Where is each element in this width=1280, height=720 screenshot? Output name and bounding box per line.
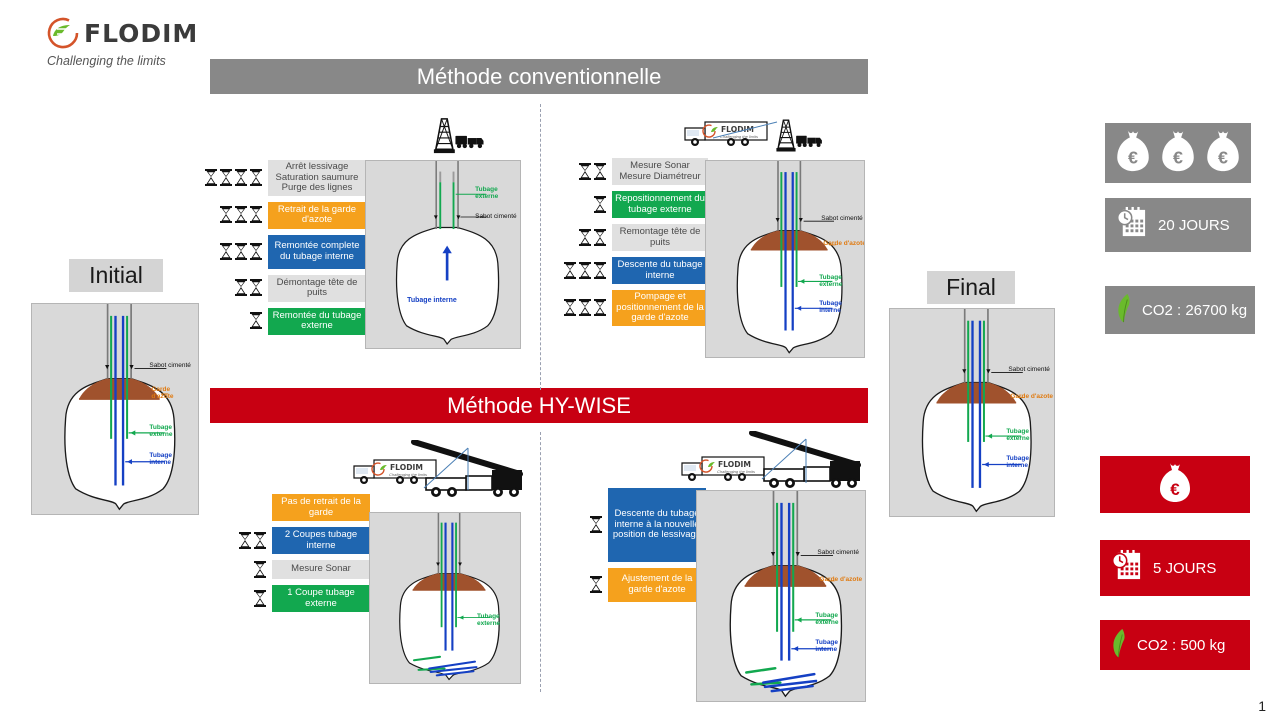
- label-sabot-cimente: Sabot cimenté: [475, 213, 517, 220]
- step-label: Remontage tête de puits: [612, 224, 708, 251]
- hourglass-icon: [234, 279, 249, 297]
- step-label: Démontage tête de puits: [268, 275, 366, 302]
- step-label: Remontée complete du tubage interne: [268, 235, 366, 269]
- flodim-logo: FLODIM Challenging the limits: [46, 14, 216, 76]
- hourglass-icon: [593, 229, 608, 247]
- hourglass-icon: [249, 312, 264, 330]
- label-tubage-externe: Tubageexterne: [819, 274, 842, 288]
- step-row: Descente du tubage interne: [560, 257, 708, 284]
- well-diagram-conventional-stage-1: TubageexterneSabot cimentéTubage interne: [365, 160, 521, 349]
- label-sabot-cimente: Sabot cimenté: [1008, 366, 1050, 373]
- svg-text:€: €: [1128, 148, 1138, 168]
- step-label: Retrait de la garde d'azote: [268, 202, 366, 229]
- kpi-cost-conventional: €€€: [1105, 123, 1251, 183]
- hourglass-icon: [253, 561, 268, 579]
- leaf-icon: [1115, 292, 1134, 329]
- step-row: Repositionnement du tubage externe: [560, 191, 708, 218]
- label-garde-azote: Garde d'azote: [823, 240, 865, 247]
- steps-conventional-stage-2: Mesure Sonar Mesure DiamétreurReposition…: [560, 158, 708, 332]
- label-tubage-externe: Tubageexterne: [815, 612, 838, 626]
- steps-hywise-stage-2: Descente du tubage interne à la nouvelle…: [568, 488, 706, 608]
- step-row: 1 Coupe tubage externe: [232, 585, 370, 612]
- hourglass-icon: [578, 262, 593, 280]
- hourglass-group: [234, 279, 264, 297]
- well-diagram-final: Sabot cimentéGarde d'azoteTubageexterneT…: [889, 308, 1055, 517]
- kpi-duration-hywise-label: 5 JOURS: [1153, 560, 1216, 577]
- kpi-duration-conventional: 20 JOURS: [1105, 198, 1251, 252]
- hourglass-group: [238, 532, 268, 550]
- kpi-cost-hywise: €: [1100, 456, 1250, 513]
- label-sabot-cimente: Sabot cimenté: [817, 549, 859, 556]
- hourglass-icon: [249, 243, 264, 261]
- hourglass-icon: [238, 532, 253, 550]
- kpi-duration-conventional-label: 20 JOURS: [1158, 217, 1230, 234]
- hourglass-group: [219, 206, 264, 224]
- derrick-icon: [434, 119, 455, 153]
- hourglass-icon: [578, 229, 593, 247]
- label-tubage-interne: Tubage interne: [407, 297, 457, 304]
- money-bag-icon: €: [1202, 127, 1244, 178]
- hourglass-icon: [219, 206, 234, 224]
- flodim-wordmark: FLODIM: [84, 19, 198, 48]
- hourglass-icon: [249, 279, 264, 297]
- hourglass-icon: [589, 516, 604, 534]
- label-tubage-interne: Tubageinterne: [1006, 455, 1029, 469]
- label-tubage-interne: Tubageinterne: [149, 452, 172, 466]
- well-diagram-hywise-stage-1: Tubageexterne: [369, 512, 521, 684]
- svg-text:€: €: [1218, 148, 1228, 168]
- step-row: 2 Coupes tubage interne: [232, 527, 370, 554]
- label-tubage-externe: Tubageexterne: [149, 424, 172, 438]
- banner-conventional-method: Méthode conventionnelle: [210, 59, 868, 94]
- step-row: Descente du tubage interne à la nouvelle…: [568, 488, 706, 562]
- step-label: Remontée du tubage externe: [268, 308, 366, 335]
- kpi-co2-hywise: CO2 : 500 kg: [1100, 620, 1250, 670]
- step-label: Pompage et positionnement de la garde d'…: [612, 290, 708, 326]
- money-bag-icon: €: [1155, 460, 1195, 509]
- steps-conventional-stage-1: Arrêt lessivage Saturation saumure Purge…: [192, 160, 366, 341]
- label-garde-azote: Garded'azote: [151, 386, 173, 400]
- tanker-truck-icon: [796, 136, 822, 147]
- hourglass-group: [219, 243, 264, 261]
- hourglass-icon: [234, 243, 249, 261]
- hourglass-icon: [578, 163, 593, 181]
- label-sabot-cimente: Sabot cimenté: [821, 215, 863, 222]
- step-label: 2 Coupes tubage interne: [272, 527, 370, 554]
- label-tubage-externe: Tubageexterne: [477, 613, 500, 627]
- hourglass-icon: [593, 262, 608, 280]
- hourglass-group: [589, 516, 604, 534]
- derrick-rig-conventional-1: [424, 105, 496, 163]
- step-row: Ajustement de la garde d'azote: [568, 568, 706, 602]
- well-diagram-hywise-stage-2: Sabot cimentéGarde d'azoteTubageexterneT…: [696, 490, 866, 702]
- step-row: Arrêt lessivage Saturation saumure Purge…: [192, 160, 366, 196]
- steps-hywise-stage-1: Pas de retrait de la garde2 Coupes tubag…: [232, 494, 370, 618]
- hourglass-group: [563, 262, 608, 280]
- hourglass-icon: [593, 163, 608, 181]
- hourglass-group: [589, 576, 604, 594]
- step-row: Remontée complete du tubage interne: [192, 235, 366, 269]
- calendar-clock-icon: [1110, 549, 1143, 587]
- divider-conventional: [540, 104, 541, 390]
- step-row: Retrait de la garde d'azote: [192, 202, 366, 229]
- svg-text:€: €: [1173, 148, 1183, 168]
- well-diagram-initial: Sabot cimentéGarded'azoteTubageexterneTu…: [31, 303, 199, 515]
- hourglass-group: [593, 196, 608, 214]
- hourglass-group: [578, 229, 608, 247]
- kpi-duration-hywise: 5 JOURS: [1100, 540, 1250, 596]
- stage-label-final: Final: [927, 271, 1015, 304]
- step-label: Descente du tubage interne: [612, 257, 708, 284]
- hourglass-icon: [219, 243, 234, 261]
- hourglass-icon: [234, 169, 249, 187]
- label-sabot-cimente: Sabot cimenté: [149, 362, 191, 369]
- hourglass-icon: [578, 299, 593, 317]
- kpi-co2-hywise-label: CO2 : 500 kg: [1137, 637, 1225, 654]
- hourglass-group: [249, 312, 264, 330]
- step-row: Pompage et positionnement de la garde d'…: [560, 290, 708, 326]
- label-tubage-interne: Tubageinterne: [819, 300, 842, 314]
- stage-label-initial: Initial: [69, 259, 163, 292]
- leaf-icon: [1110, 627, 1129, 664]
- crane-rig-hywise-1: FLODIMChallenging the limits: [352, 440, 524, 515]
- hourglass-group: [204, 169, 264, 187]
- well-diagram-conventional-stage-2: Sabot cimentéGarde d'azoteTubageexterneT…: [705, 160, 865, 358]
- hourglass-icon: [593, 196, 608, 214]
- kpi-co2-conventional: CO2 : 26700 kg: [1105, 286, 1255, 334]
- step-label: Repositionnement du tubage externe: [612, 191, 708, 218]
- step-label: Arrêt lessivage Saturation saumure Purge…: [268, 160, 366, 196]
- label-tubage-interne: Tubageinterne: [815, 639, 838, 653]
- hourglass-icon: [234, 206, 249, 224]
- page-number: 1: [1258, 698, 1266, 714]
- label-garde-azote: Garde d'azote: [1010, 393, 1053, 400]
- step-row: Remontée du tubage externe: [192, 308, 366, 335]
- hourglass-icon: [563, 299, 578, 317]
- svg-text:€: €: [1170, 480, 1180, 499]
- label-tubage-externe: Tubageexterne: [475, 186, 498, 200]
- hourglass-icon: [253, 590, 268, 608]
- flodim-logo-mark: [46, 16, 80, 50]
- hourglass-icon: [204, 169, 219, 187]
- hourglass-icon: [563, 262, 578, 280]
- hourglass-icon: [253, 532, 268, 550]
- crane-rig-hywise-2: FLODIMChallenging the limits: [680, 435, 870, 493]
- hourglass-group: [578, 163, 608, 181]
- hourglass-icon: [219, 169, 234, 187]
- step-label: Mesure Sonar: [272, 560, 370, 579]
- hourglass-icon: [249, 206, 264, 224]
- hourglass-icon: [589, 576, 604, 594]
- hourglass-group: [253, 561, 268, 579]
- step-row: Pas de retrait de la garde: [232, 494, 370, 521]
- step-label: Ajustement de la garde d'azote: [608, 568, 706, 602]
- hourglass-group: [563, 299, 608, 317]
- hourglass-icon: [593, 299, 608, 317]
- flodim-tagline: Challenging the limits: [47, 54, 166, 68]
- tanker-truck-icon: [455, 136, 483, 148]
- banner-hywise-method: Méthode HY-WISE: [210, 388, 868, 423]
- derrick-rig-conventional-2: FLODIMChallenging the limits: [683, 118, 829, 163]
- money-bag-icon: €: [1112, 127, 1154, 178]
- calendar-clock-icon: [1115, 206, 1148, 244]
- step-label: 1 Coupe tubage externe: [272, 585, 370, 612]
- step-label: Descente du tubage interne à la nouvelle…: [608, 488, 706, 562]
- money-bag-icon: €: [1157, 127, 1199, 178]
- step-row: Mesure Sonar: [232, 560, 370, 579]
- label-garde-azote: Garde d'azote: [819, 576, 862, 583]
- kpi-co2-conventional-label: CO2 : 26700 kg: [1142, 302, 1247, 319]
- divider-hywise: [540, 432, 541, 692]
- label-tubage-externe: Tubageexterne: [1006, 428, 1029, 442]
- hourglass-group: [253, 590, 268, 608]
- hourglass-icon: [249, 169, 264, 187]
- step-row: Remontage tête de puits: [560, 224, 708, 251]
- step-row: Démontage tête de puits: [192, 275, 366, 302]
